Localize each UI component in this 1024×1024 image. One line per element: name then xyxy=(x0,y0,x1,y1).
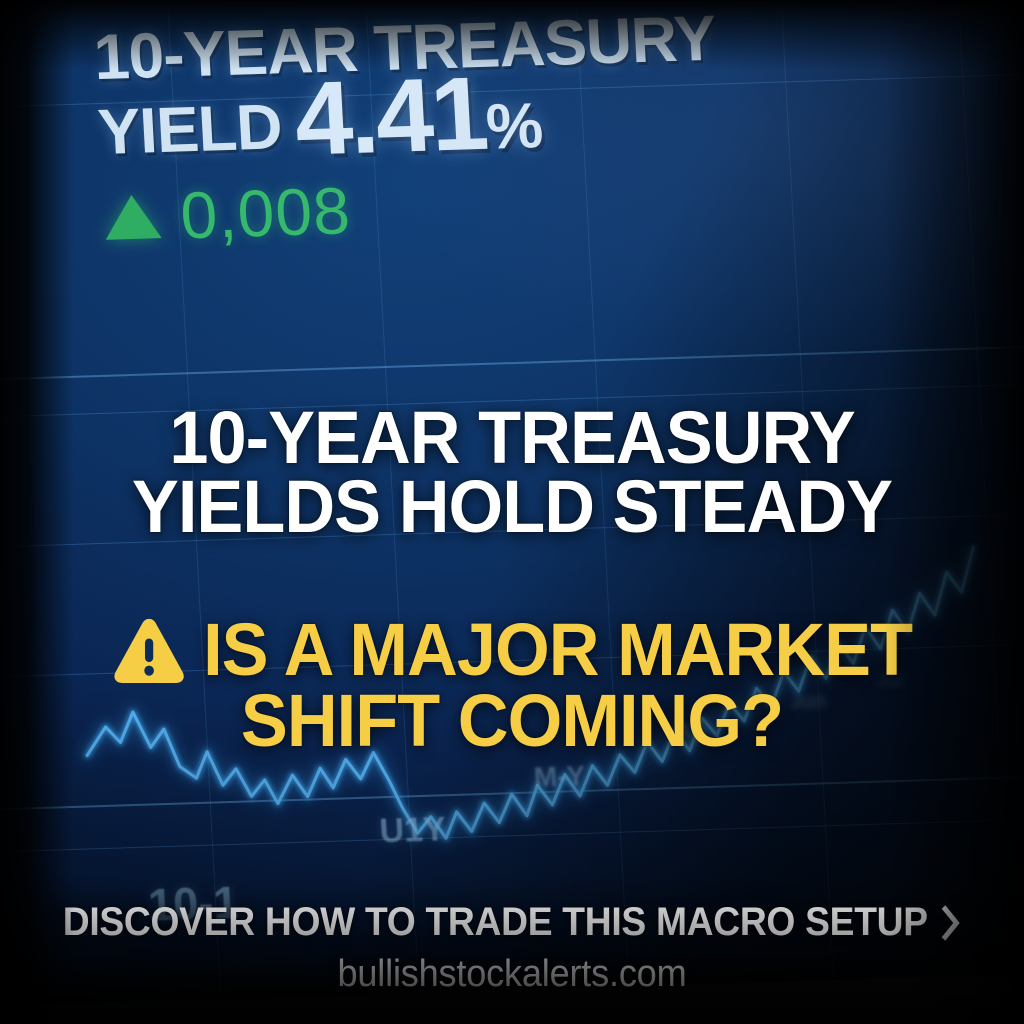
subheadline-line-1-text: IS A MAJOR MARKET xyxy=(203,614,912,685)
chevron-right-icon xyxy=(939,903,961,943)
subheadline-line-1-row: IS A MAJOR MARKET xyxy=(26,614,999,685)
text-overlay: 10-YEAR TREASURY YIELDS HOLD STEADY IS A… xyxy=(0,0,1024,1024)
promo-graphic: 10-YEAR TREASURY YIELD 4.41% 0,008 10-1 … xyxy=(0,0,1024,1024)
subheadline-line-2: SHIFT COMING? xyxy=(26,685,999,756)
headline-line-1: 10-YEAR TREASURY xyxy=(26,404,999,473)
cta-text: DISCOVER HOW TO TRADE THIS MACRO SETUP xyxy=(63,900,928,945)
subheadline: IS A MAJOR MARKET SHIFT COMING? xyxy=(26,614,999,756)
website-url[interactable]: bullishstockalerts.com xyxy=(26,953,999,996)
warning-triangle-icon xyxy=(112,615,186,685)
headline-line-2: YIELDS HOLD STEADY xyxy=(26,473,999,542)
headline: 10-YEAR TREASURY YIELDS HOLD STEADY xyxy=(26,404,999,542)
cta-banner[interactable]: DISCOVER HOW TO TRADE THIS MACRO SETUP xyxy=(36,900,988,945)
